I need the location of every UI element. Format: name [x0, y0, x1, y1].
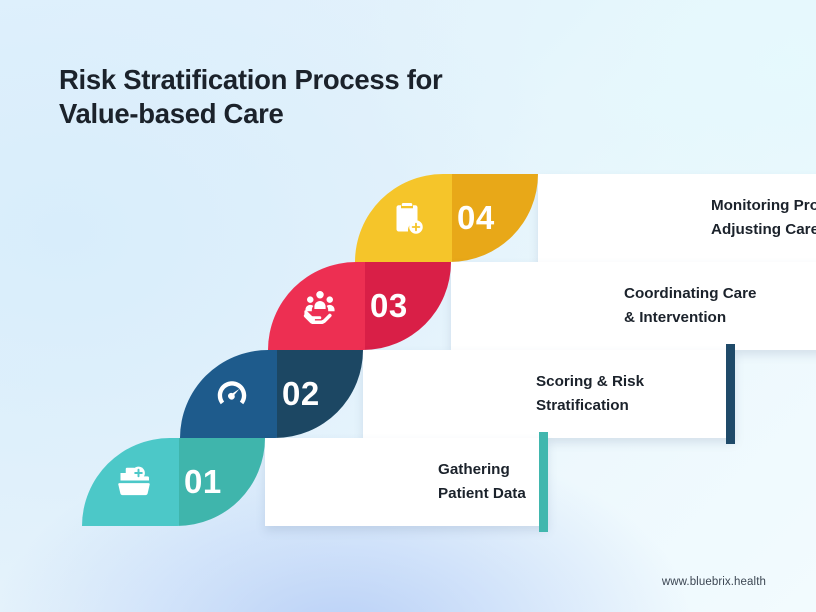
step-leaf-shape: [268, 262, 451, 350]
infographic-canvas: Risk Stratification Process for Value-ba…: [0, 0, 816, 612]
step-label: Monitoring Progress & Adjusting Care Pla…: [711, 174, 816, 262]
clipboard-plus-icon: [389, 200, 425, 236]
step-number: 01: [184, 438, 222, 526]
step-accent-bar: [726, 344, 735, 444]
step-leaf-shape: [180, 350, 363, 438]
step-leaf-shape: [82, 438, 265, 526]
process-step-01[interactable]: 01 Gathering Patient Data: [82, 438, 548, 526]
people-care-hands-icon: [302, 288, 338, 324]
step-number: 04: [457, 174, 495, 262]
step-number: 03: [370, 262, 408, 350]
footer-website-url: www.bluebrix.health: [662, 576, 766, 588]
step-label: Gathering Patient Data: [438, 438, 526, 526]
step-leaf-shape: [355, 174, 538, 262]
process-step-03[interactable]: 03 Coordinating Care & Intervention: [268, 262, 816, 350]
page-title: Risk Stratification Process for Value-ba…: [59, 63, 559, 132]
step-number: 02: [282, 350, 320, 438]
speedometer-gauge-icon: [214, 376, 250, 412]
process-step-04[interactable]: 04 Monitoring Progress & Adjusting Care …: [355, 174, 816, 262]
folder-document-upload-icon: [116, 464, 152, 500]
step-label: Coordinating Care & Intervention: [624, 262, 756, 350]
process-step-02[interactable]: 02 Scoring & Risk Stratification: [180, 350, 735, 438]
step-label: Scoring & Risk Stratification: [536, 350, 644, 438]
step-accent-bar: [539, 432, 548, 532]
